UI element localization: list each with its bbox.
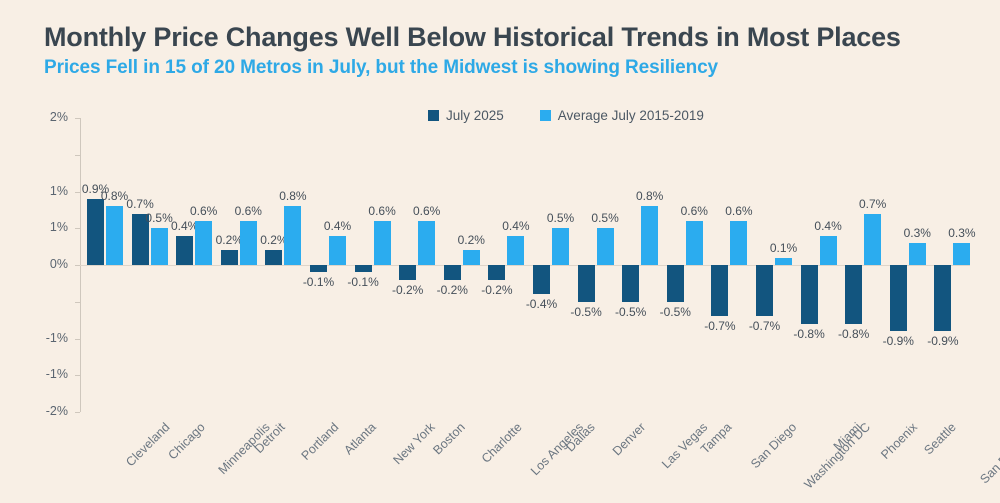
- bar[interactable]: [686, 221, 703, 265]
- bar[interactable]: [711, 265, 728, 316]
- bar[interactable]: [641, 206, 658, 265]
- x-axis-label: Chicago: [165, 420, 207, 462]
- bar[interactable]: [533, 265, 550, 294]
- bar-group: -0.4%0.5%: [530, 118, 572, 412]
- x-axis-label: Portland: [299, 420, 342, 463]
- bar-value-label: -0.1%: [295, 275, 343, 289]
- bar[interactable]: [597, 228, 614, 265]
- bar[interactable]: [87, 199, 104, 265]
- x-axis-label: Cleveland: [123, 420, 172, 469]
- bar-group: -0.5%0.8%: [619, 118, 661, 412]
- bar[interactable]: [221, 250, 238, 265]
- x-axis-label: San Diego: [748, 420, 799, 471]
- y-axis-label: -1%: [34, 331, 68, 345]
- bar-value-label: -0.5%: [651, 305, 699, 319]
- bar[interactable]: [507, 236, 524, 265]
- bar[interactable]: [265, 250, 282, 265]
- bar-value-label: -0.2%: [384, 283, 432, 297]
- bar[interactable]: [463, 250, 480, 265]
- y-axis-label: -1%: [34, 367, 68, 381]
- bar-value-label: -0.2%: [428, 283, 476, 297]
- bar-group: 0.4%0.6%: [173, 118, 215, 412]
- y-axis-label: 0%: [34, 257, 68, 271]
- bar-group: -0.1%0.4%: [307, 118, 349, 412]
- plot-area: 2%1%1%0%-1%-1%-2%0.9%0.8%Cleveland0.7%0.…: [80, 118, 970, 412]
- y-axis-label: 1%: [34, 220, 68, 234]
- bar[interactable]: [374, 221, 391, 265]
- bar[interactable]: [418, 221, 435, 265]
- y-axis-tick: [75, 155, 80, 156]
- y-axis-label: 2%: [34, 110, 68, 124]
- bar[interactable]: [934, 265, 951, 331]
- bar-group: 0.9%0.8%: [84, 118, 126, 412]
- y-axis-tick: [75, 339, 80, 340]
- bar[interactable]: [329, 236, 346, 265]
- bar[interactable]: [151, 228, 168, 265]
- y-axis-tick: [75, 412, 80, 413]
- page-subtitle: Prices Fell in 15 of 20 Metros in July, …: [44, 57, 718, 79]
- bar[interactable]: [953, 243, 970, 265]
- bar[interactable]: [890, 265, 907, 331]
- bar-value-label: -0.8%: [785, 327, 833, 341]
- bar-group: -0.8%0.4%: [798, 118, 840, 412]
- bar-value-label: -0.5%: [562, 305, 610, 319]
- bar[interactable]: [399, 265, 416, 280]
- bar[interactable]: [578, 265, 595, 302]
- bar[interactable]: [310, 265, 327, 272]
- y-axis-tick: [75, 118, 80, 119]
- chart-page: Monthly Price Changes Well Below Histori…: [0, 0, 1000, 503]
- bar[interactable]: [667, 265, 684, 302]
- x-axis-label: San Francisco: [978, 420, 1000, 486]
- bar-value-label: -0.1%: [339, 275, 387, 289]
- bar-value-label: -0.9%: [919, 334, 967, 348]
- x-axis-label: Atlanta: [341, 420, 378, 457]
- bar-group: -0.1%0.6%: [352, 118, 394, 412]
- bar[interactable]: [756, 265, 773, 316]
- x-axis-label: Denver: [609, 420, 647, 458]
- bar[interactable]: [845, 265, 862, 324]
- bar-group: -0.2%0.2%: [441, 118, 483, 412]
- x-axis-label: Charlotte: [479, 420, 525, 466]
- bar[interactable]: [444, 265, 461, 280]
- bar[interactable]: [106, 206, 123, 265]
- y-axis-label: -2%: [34, 404, 68, 418]
- bar[interactable]: [820, 236, 837, 265]
- bar-group: -0.2%0.6%: [396, 118, 438, 412]
- bar[interactable]: [488, 265, 505, 280]
- bar-value-label: -0.7%: [696, 319, 744, 333]
- bar-value-label: 0.3%: [938, 226, 986, 240]
- bar[interactable]: [552, 228, 569, 265]
- bar[interactable]: [909, 243, 926, 265]
- bar-group: -0.5%0.5%: [575, 118, 617, 412]
- bar-value-label: -0.5%: [607, 305, 655, 319]
- bar-value-label: -0.7%: [741, 319, 789, 333]
- page-title: Monthly Price Changes Well Below Histori…: [44, 22, 901, 53]
- bar-group: -0.8%0.7%: [842, 118, 884, 412]
- bar[interactable]: [775, 258, 792, 265]
- bar-group: -0.5%0.6%: [664, 118, 706, 412]
- bar[interactable]: [864, 214, 881, 265]
- bar[interactable]: [801, 265, 818, 324]
- x-axis-label: Seattle: [921, 420, 958, 457]
- x-axis-label: New York: [390, 420, 437, 467]
- y-axis-label: 1%: [34, 184, 68, 198]
- bar-value-label: -0.4%: [518, 297, 566, 311]
- y-axis-tick: [75, 228, 80, 229]
- bar[interactable]: [355, 265, 372, 272]
- bar-group: -0.2%0.4%: [485, 118, 527, 412]
- bar-group: -0.7%0.6%: [708, 118, 750, 412]
- bar-value-label: -0.2%: [473, 283, 521, 297]
- bar[interactable]: [622, 265, 639, 302]
- bar-group: 0.2%0.8%: [262, 118, 304, 412]
- bar[interactable]: [176, 236, 193, 265]
- bar[interactable]: [730, 221, 747, 265]
- bar-group: -0.9%0.3%: [887, 118, 929, 412]
- bar[interactable]: [284, 206, 301, 265]
- y-axis-tick: [75, 302, 80, 303]
- bar-value-label: -0.8%: [830, 327, 878, 341]
- bar-group: 0.2%0.6%: [218, 118, 260, 412]
- x-axis-label: Boston: [431, 420, 468, 457]
- bar-group: -0.9%0.3%: [931, 118, 973, 412]
- x-axis-label: Phoenix: [878, 420, 920, 462]
- bar-group: -0.7%0.1%: [753, 118, 795, 412]
- y-axis-tick: [75, 375, 80, 376]
- bar-value-label: -0.9%: [874, 334, 922, 348]
- bar-group: 0.7%0.5%: [129, 118, 171, 412]
- bar-value-label: 0.7%: [116, 197, 164, 211]
